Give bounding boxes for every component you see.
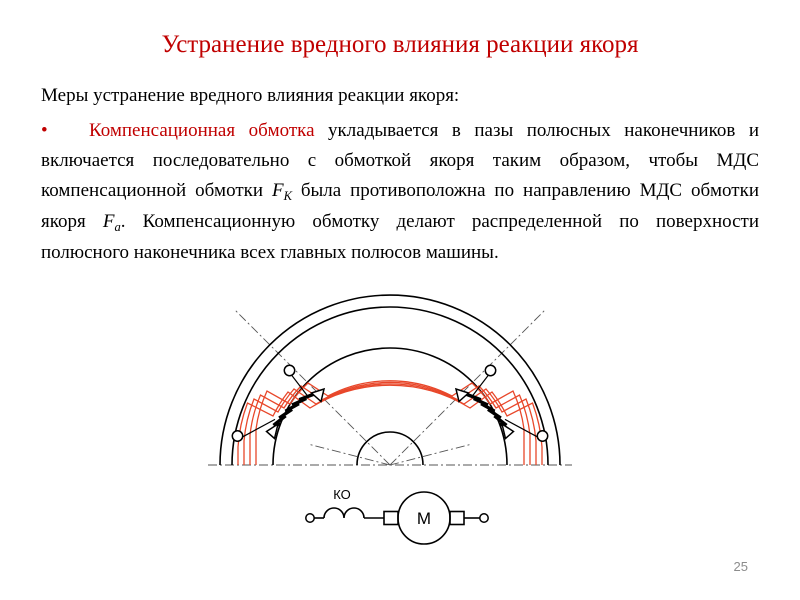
ko-inductor-coil	[324, 508, 364, 518]
left-brush	[384, 512, 398, 525]
circuit-schematic-figure: КО М	[290, 483, 510, 543]
left-terminal-node	[306, 514, 314, 522]
symbol-fk-subscript: К	[284, 189, 292, 203]
right-terminal-node	[480, 514, 488, 522]
bullet-text-3: . Компенсационную обмотку делают распред…	[41, 211, 759, 263]
circuit-svg: КО М	[290, 483, 510, 543]
bullet-marker-icon: •	[41, 116, 51, 146]
left-pole-terminal-outer	[232, 431, 242, 441]
brush-axis-right	[390, 444, 472, 465]
symbol-fa-base: F	[103, 211, 115, 232]
stator-inner-arc	[232, 307, 548, 465]
page-number: 25	[734, 559, 748, 574]
highlight-term: Компенсационная обмотка	[89, 120, 315, 141]
shaft-arc	[357, 432, 423, 465]
body-text-block: Меры устранение вредного влияния реакции…	[41, 82, 759, 268]
brush-axis-left	[308, 444, 390, 465]
symbol-fk: FК	[272, 180, 292, 201]
motor-label: М	[417, 509, 431, 528]
machine-svg	[190, 295, 600, 485]
right-pole-terminal-outer	[537, 431, 547, 441]
machine-cross-section-figure	[190, 295, 600, 485]
lead-sentence: Меры устранение вредного влияния реакции…	[41, 82, 759, 110]
compensation-winding-turn-4	[256, 381, 524, 465]
compensation-winding-turn-1	[238, 385, 542, 465]
ko-label: КО	[333, 487, 351, 502]
left-pole-terminal-inner	[284, 365, 294, 375]
left-pole-wedge-upper	[312, 389, 325, 402]
stator-outer-arc	[220, 295, 560, 465]
symbol-fk-base: F	[272, 180, 284, 201]
symbol-fa: Fа	[103, 211, 121, 232]
symbol-fa-subscript: а	[114, 220, 120, 234]
slide-root: Устранение вредного влияния реакции якор…	[0, 0, 800, 600]
bullet-paragraph: •Компенсационная обмотка укладывается в …	[41, 116, 759, 268]
right-pole-wedge-upper	[456, 389, 469, 402]
compensation-winding-turn-2	[244, 384, 536, 465]
right-brush	[450, 512, 464, 525]
right-pole-terminal-inner	[485, 365, 495, 375]
page-title: Устранение вредного влияния реакции якор…	[40, 30, 760, 60]
